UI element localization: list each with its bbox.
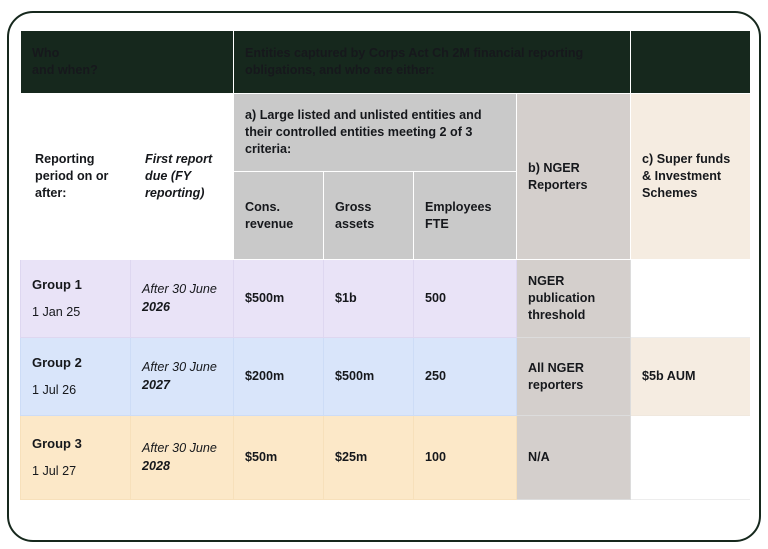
- row-super: $5b AUM: [631, 338, 750, 416]
- subheader-first-report-due: First report due (FY reporting): [131, 94, 234, 260]
- row-cons-revenue: $500m: [234, 260, 324, 338]
- group-start-date: 1 Jan 25: [32, 304, 120, 321]
- row-nger: All NGER reporters: [517, 338, 631, 416]
- header-who-and-when: Who and when?: [21, 31, 234, 94]
- due-prefix: After 30 June: [142, 441, 217, 455]
- group-start-date: 1 Jul 27: [32, 463, 120, 480]
- row-group-who: Group 1 1 Jan 25: [21, 260, 131, 338]
- row-employees-fte: 250: [414, 338, 517, 416]
- group-name: Group 3: [32, 435, 120, 452]
- row-gross-assets: $500m: [324, 338, 414, 416]
- subheader-cons-revenue: Cons. revenue: [234, 172, 324, 260]
- reporting-obligations-table: Who and when? Entities captured by Corps…: [20, 30, 750, 500]
- row-nger: N/A: [517, 416, 631, 500]
- table-container: Who and when? Entities captured by Corps…: [20, 30, 750, 500]
- header-entities-caption: Entities captured by Corps Act Ch 2M fin…: [234, 31, 631, 94]
- row-gross-assets: $25m: [324, 416, 414, 500]
- row-employees-fte: 500: [414, 260, 517, 338]
- row-group-who: Group 3 1 Jul 27: [21, 416, 131, 500]
- row-cons-revenue: $50m: [234, 416, 324, 500]
- row-first-report-due: After 30 June 2027: [131, 338, 234, 416]
- table-header-row: Who and when? Entities captured by Corps…: [21, 31, 751, 94]
- table-row: Group 3 1 Jul 27 After 30 June 2028 $50m…: [21, 416, 751, 500]
- row-nger: NGER publication threshold: [517, 260, 631, 338]
- row-super: [631, 416, 750, 500]
- subheader-row-top: Reporting period on or after: First repo…: [21, 94, 751, 172]
- subheader-employees-fte: Employees FTE: [414, 172, 517, 260]
- row-cons-revenue: $200m: [234, 338, 324, 416]
- due-year: 2028: [142, 458, 223, 475]
- slide-card: Who and when? Entities captured by Corps…: [7, 11, 761, 542]
- table-row: Group 1 1 Jan 25 After 30 June 2026 $500…: [21, 260, 751, 338]
- subheader-reporting-period: Reporting period on or after:: [21, 94, 131, 260]
- group-start-date: 1 Jul 26: [32, 382, 120, 399]
- subheader-super-funds: c) Super funds & Investment Schemes: [631, 94, 750, 260]
- group-name: Group 1: [32, 276, 120, 293]
- row-group-who: Group 2 1 Jul 26: [21, 338, 131, 416]
- subheader-gross-assets: Gross assets: [324, 172, 414, 260]
- table-row: Group 2 1 Jul 26 After 30 June 2027 $200…: [21, 338, 751, 416]
- row-gross-assets: $1b: [324, 260, 414, 338]
- first-report-due-label: First report due (FY reporting): [145, 152, 212, 200]
- header-right-blank: [631, 31, 750, 94]
- due-prefix: After 30 June: [142, 360, 217, 374]
- row-super: [631, 260, 750, 338]
- subheader-nger-reporters: b) NGER Reporters: [517, 94, 631, 260]
- group-name: Group 2: [32, 354, 120, 371]
- row-employees-fte: 100: [414, 416, 517, 500]
- due-prefix: After 30 June: [142, 282, 217, 296]
- due-year: 2027: [142, 377, 223, 394]
- row-first-report-due: After 30 June 2026: [131, 260, 234, 338]
- due-year: 2026: [142, 299, 223, 316]
- row-first-report-due: After 30 June 2028: [131, 416, 234, 500]
- subheader-criteria-group-label: a) Large listed and unlisted entities an…: [234, 94, 517, 172]
